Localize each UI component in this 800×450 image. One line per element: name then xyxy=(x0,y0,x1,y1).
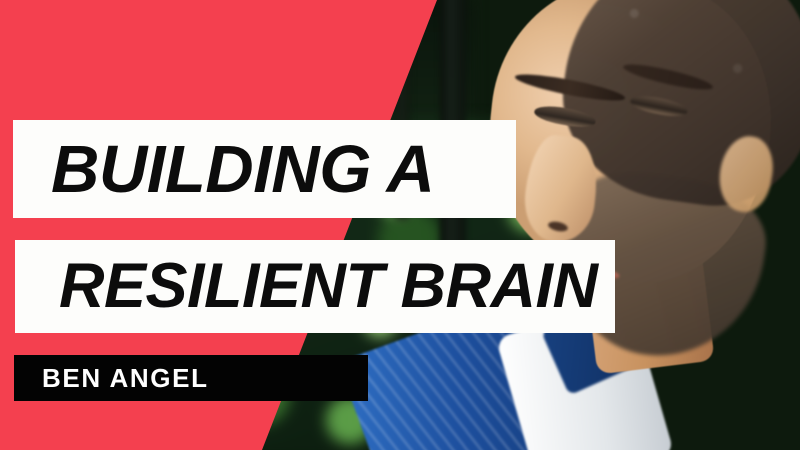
video-thumbnail: BUILDING A RESILIENT BRAIN BEN ANGEL xyxy=(0,0,800,450)
speaker-name-bar: BEN ANGEL xyxy=(14,355,368,401)
title-band-secondary: RESILIENT BRAIN xyxy=(15,240,615,333)
title-line-2: RESILIENT BRAIN xyxy=(15,255,598,318)
title-band-primary: BUILDING A xyxy=(13,120,516,218)
title-line-1: BUILDING A xyxy=(13,136,434,203)
speaker-name-label: BEN ANGEL xyxy=(14,365,209,391)
subject-portrait xyxy=(470,0,800,450)
